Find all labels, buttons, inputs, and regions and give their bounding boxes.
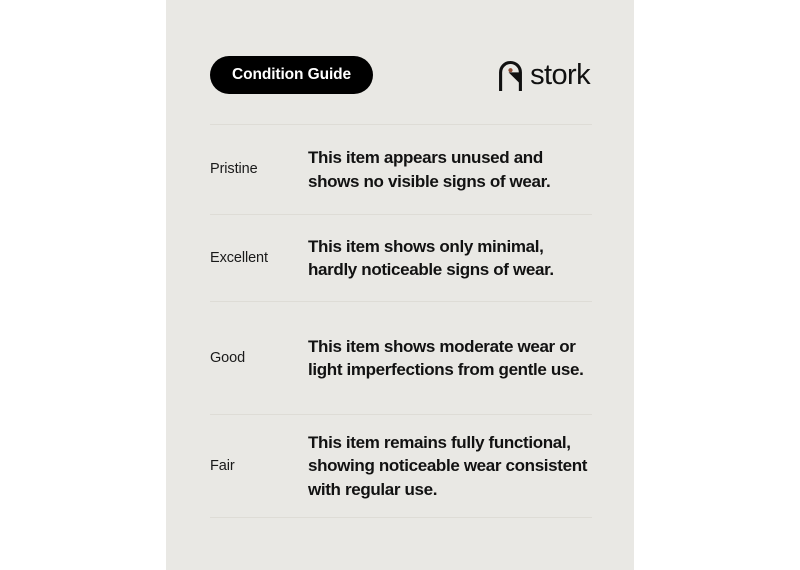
brand-lockup: stork (498, 60, 590, 91)
condition-term: Excellent (210, 249, 308, 268)
table-bottom-divider (210, 517, 592, 518)
table-row: Pristine This item appears unused and sh… (210, 125, 592, 214)
condition-description: This item appears unused and shows no vi… (308, 146, 592, 192)
stork-arch-logo-icon (498, 60, 523, 91)
page-root: Condition Guide stork Pristine This item… (0, 0, 800, 570)
table-row: Good This item shows moderate wear or li… (210, 302, 592, 414)
table-row: Fair This item remains fully functional,… (210, 415, 592, 517)
condition-guide-table: Pristine This item appears unused and sh… (210, 124, 592, 518)
condition-term: Pristine (210, 160, 308, 179)
condition-term: Fair (210, 457, 308, 476)
condition-description: This item shows moderate wear or light i… (308, 335, 592, 381)
condition-description: This item shows only minimal, hardly not… (308, 235, 592, 281)
condition-guide-badge: Condition Guide (210, 56, 373, 95)
condition-description: This item remains fully functional, show… (308, 431, 592, 500)
card-header: Condition Guide stork (210, 54, 592, 96)
condition-term: Good (210, 349, 308, 368)
table-row: Excellent This item shows only minimal, … (210, 215, 592, 301)
condition-guide-card: Condition Guide stork Pristine This item… (166, 0, 634, 570)
brand-name: stork (530, 61, 590, 90)
